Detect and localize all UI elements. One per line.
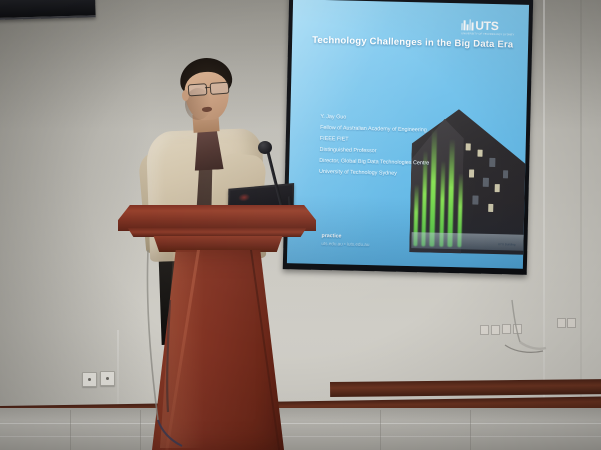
wall-socket <box>513 324 522 334</box>
building-window <box>489 158 495 167</box>
building-window <box>503 170 508 178</box>
building-window <box>469 169 474 177</box>
wall-socket <box>557 318 566 328</box>
building-window <box>488 204 493 212</box>
wall-socket <box>100 371 115 386</box>
floor-tile-line <box>0 423 601 424</box>
wall-mounted-panel <box>0 0 96 20</box>
podium-neck <box>148 236 288 252</box>
floor-tile-line <box>70 410 71 450</box>
floor-tile-line <box>470 410 471 450</box>
podium-top <box>118 205 316 231</box>
wall-socket <box>502 324 511 334</box>
presentation-photo: UTS UNIVERSITY OF TECHNOLOGY SYDNEY <box>0 0 601 450</box>
building-window <box>495 184 500 192</box>
glasses-right-lens <box>210 82 230 95</box>
wall-socket <box>480 325 489 335</box>
podium-lip <box>122 228 312 237</box>
building-caption: UTS Building <box>498 242 516 246</box>
wall-seam <box>543 0 545 418</box>
wall-socket <box>491 325 500 335</box>
floor <box>0 408 601 450</box>
uts-logo-mark: UTS <box>461 19 514 31</box>
floor-tile-line <box>0 436 601 437</box>
glasses-left-lens <box>188 83 208 96</box>
wall-seam <box>580 0 582 418</box>
building-window <box>477 150 482 157</box>
building-window <box>483 178 489 187</box>
slide-author-block: Y. Jay Guo Fellow of Australian Academy … <box>319 112 471 182</box>
uts-logo-subtitle: UNIVERSITY OF TECHNOLOGY SYDNEY <box>461 32 514 36</box>
slide-title: Technology Challenges in the Big Data Er… <box>312 36 517 51</box>
microphone-icon <box>258 141 272 154</box>
author-line: University of Technology Sydney <box>319 167 469 182</box>
floor-tile-line <box>380 410 381 450</box>
eyeglasses-icon <box>188 82 231 96</box>
wall-socket <box>567 318 576 328</box>
uts-logo: UTS UNIVERSITY OF TECHNOLOGY SYDNEY <box>461 19 514 36</box>
wall-socket <box>82 372 97 387</box>
uts-bars-icon <box>461 19 473 30</box>
baseboard <box>330 379 601 397</box>
slide-footer: practice uts.edu.au • iuts.edu.au <box>321 233 481 251</box>
uts-logo-text: UTS <box>475 20 498 31</box>
projection-screen: UTS UNIVERSITY OF TECHNOLOGY SYDNEY <box>283 0 533 275</box>
building-window <box>472 196 478 205</box>
slide-surface: UTS UNIVERSITY OF TECHNOLOGY SYDNEY <box>287 0 529 269</box>
floor-tile-line <box>140 410 141 450</box>
laptop-screen-glow <box>238 193 250 202</box>
